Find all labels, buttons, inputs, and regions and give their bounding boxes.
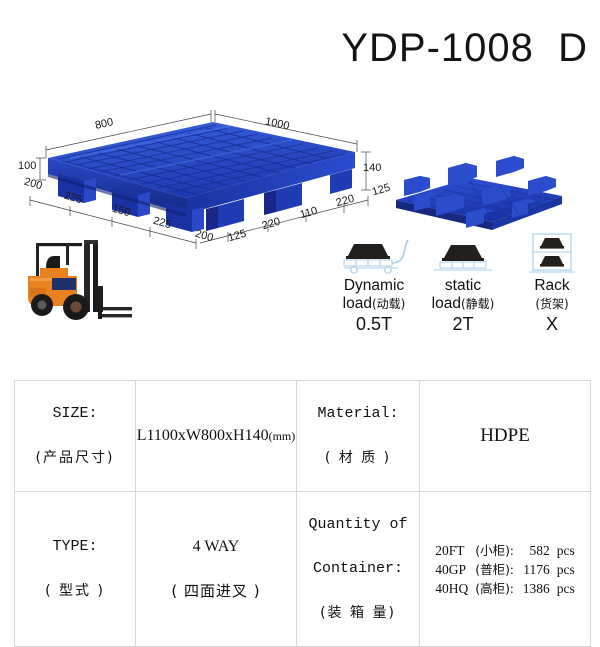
container-qty-row: 40GP(普柜):1176pcs bbox=[435, 560, 575, 579]
load-label-line2: load(动载) bbox=[332, 295, 416, 313]
table-row: TYPE: ( 型式 ) 4 WAY ( 四面进叉 ) Quantity of … bbox=[15, 492, 591, 647]
type-head-en: TYPE: bbox=[15, 536, 135, 558]
type-head-cn: ( 型式 ) bbox=[15, 580, 135, 602]
load-value-rack: X bbox=[510, 314, 594, 335]
cell-container-head: Quantity of Container: (装 箱 量) bbox=[297, 492, 420, 647]
load-label-en: static bbox=[421, 277, 505, 294]
load-spec-static: static load(静载) 2T bbox=[421, 232, 505, 335]
cell-type-value: 4 WAY ( 四面进叉 ) bbox=[136, 492, 297, 647]
container-qty-row: 40HQ(高柜):1386pcs bbox=[435, 579, 575, 598]
cell-material-value: HDPE bbox=[420, 381, 591, 492]
cell-size-value: L1100xW800xH140(mm) bbox=[136, 381, 297, 492]
container-code: 40HQ bbox=[435, 579, 475, 598]
cell-type-head: TYPE: ( 型式 ) bbox=[15, 492, 136, 647]
container-code: 40GP bbox=[435, 560, 475, 579]
static-pallet-icon bbox=[421, 232, 505, 276]
container-quantity: 1386 bbox=[514, 579, 550, 598]
load-label-en: Dynamic bbox=[332, 277, 416, 294]
cell-material-head: Material: ( 材 质 ) bbox=[297, 381, 420, 492]
container-head-cn: (装 箱 量) bbox=[297, 602, 419, 624]
load-label-en: Rack bbox=[510, 277, 594, 294]
rack-shelf-icon bbox=[510, 232, 594, 276]
size-head-cn: (产品尺寸) bbox=[15, 447, 135, 469]
cell-container-value: 20FT(小柜):582pcs40GP(普柜):1176pcs40HQ(高柜):… bbox=[420, 492, 591, 647]
load-label-line2: load(静载) bbox=[421, 295, 505, 313]
load-value-dynamic: 0.5T bbox=[332, 314, 416, 335]
container-quantity: 582 bbox=[514, 541, 550, 560]
load-value-static: 2T bbox=[421, 314, 505, 335]
material-value: HDPE bbox=[420, 425, 590, 447]
load-spec-dynamic: Dynamic load(动载) 0.5T bbox=[332, 232, 416, 335]
page-title: YDP-1008 D bbox=[0, 26, 588, 71]
size-head-en: SIZE: bbox=[15, 403, 135, 425]
cell-size-head: SIZE: (产品尺寸) bbox=[15, 381, 136, 492]
type-value-cn: ( 四面进叉 ) bbox=[136, 580, 296, 602]
container-unit: pcs bbox=[557, 581, 575, 596]
pallet-truck-icon bbox=[332, 232, 416, 276]
container-head-en2: Container: bbox=[297, 558, 419, 580]
size-value: L1100xW800xH140 bbox=[137, 427, 269, 444]
load-label-line2: (货架) bbox=[510, 295, 594, 313]
size-unit: (mm) bbox=[269, 429, 296, 443]
container-code: 20FT bbox=[435, 541, 475, 560]
specification-table: SIZE: (产品尺寸) L1100xW800xH140(mm) Materia… bbox=[14, 380, 591, 647]
container-quantity-list: 20FT(小柜):582pcs40GP(普柜):1176pcs40HQ(高柜):… bbox=[435, 541, 575, 598]
container-head-en1: Quantity of bbox=[297, 514, 419, 536]
container-code-cn: (高柜) bbox=[475, 581, 510, 596]
material-head-cn: ( 材 质 ) bbox=[297, 447, 419, 469]
container-code-cn: (普柜) bbox=[475, 562, 510, 577]
load-spec-rack: Rack (货架) X bbox=[510, 232, 594, 335]
material-head-en: Material: bbox=[297, 403, 419, 425]
type-value-en: 4 WAY bbox=[136, 536, 296, 558]
table-row: SIZE: (产品尺寸) L1100xW800xH140(mm) Materia… bbox=[15, 381, 591, 492]
container-unit: pcs bbox=[557, 543, 575, 558]
container-unit: pcs bbox=[557, 562, 575, 577]
container-code-cn: (小柜) bbox=[475, 543, 510, 558]
load-spec-group: Dynamic load(动载) 0.5T static load(静载) 2T bbox=[332, 232, 594, 342]
container-qty-row: 20FT(小柜):582pcs bbox=[435, 541, 575, 560]
container-quantity: 1176 bbox=[514, 560, 550, 579]
